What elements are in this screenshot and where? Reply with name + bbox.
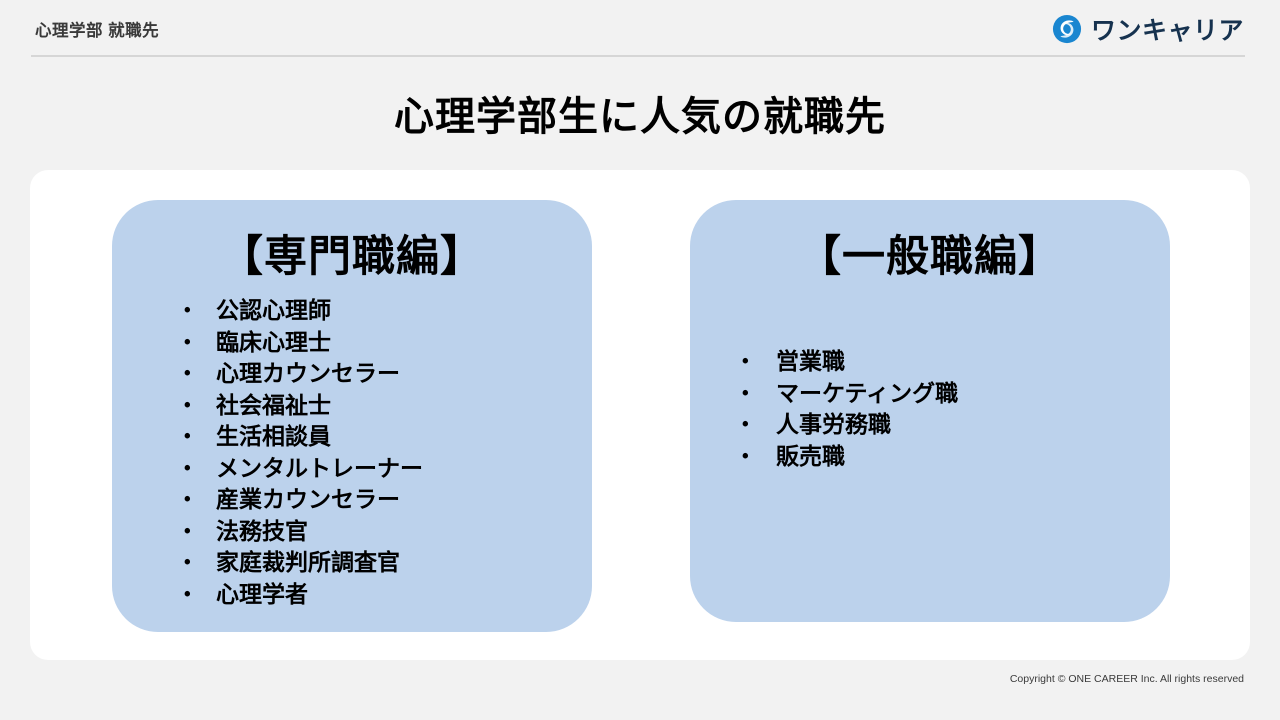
slide-root: 心理学部 就職先 ワンキャリア 心理学部生に人気の就職先 【専門職編】 公認心理… xyxy=(0,0,1280,720)
list-item: 公認心理師 xyxy=(184,295,592,327)
slide-header: 心理学部 就職先 ワンキャリア xyxy=(0,0,1280,58)
one-career-swirl-icon xyxy=(1052,14,1082,44)
list-item: メンタルトレーナー xyxy=(184,453,592,485)
header-breadcrumb-title: 心理学部 就職先 xyxy=(35,17,159,41)
list-item: 販売職 xyxy=(742,441,1170,473)
list-item: 臨床心理士 xyxy=(184,327,592,359)
brand-name-label: ワンキャリア xyxy=(1091,11,1244,47)
list-item: 法務技官 xyxy=(184,516,592,548)
list-item: 心理学者 xyxy=(184,579,592,611)
list-item: 心理カウンセラー xyxy=(184,358,592,390)
card-specialist-list: 公認心理師 臨床心理士 心理カウンセラー 社会福祉士 生活相談員 メンタルトレー… xyxy=(112,295,592,610)
list-item: 家庭裁判所調査官 xyxy=(184,547,592,579)
card-specialist: 【専門職編】 公認心理師 臨床心理士 心理カウンセラー 社会福祉士 生活相談員 … xyxy=(112,200,592,632)
card-specialist-title: 【専門職編】 xyxy=(112,222,592,284)
card-general: 【一般職編】 営業職 マーケティング職 人事労務職 販売職 xyxy=(690,200,1170,622)
header-divider xyxy=(31,55,1245,57)
list-item: マーケティング職 xyxy=(742,378,1170,410)
list-item: 社会福祉士 xyxy=(184,390,592,422)
page-title: 心理学部生に人気の就職先 xyxy=(0,84,1280,142)
card-general-title: 【一般職編】 xyxy=(690,222,1170,284)
footer-copyright: Copyright © ONE CAREER Inc. All rights r… xyxy=(1010,673,1244,685)
card-general-list: 営業職 マーケティング職 人事労務職 販売職 xyxy=(690,346,1170,472)
list-item: 人事労務職 xyxy=(742,409,1170,441)
list-item: 生活相談員 xyxy=(184,421,592,453)
brand-logo: ワンキャリア xyxy=(1052,11,1244,47)
list-item: 産業カウンセラー xyxy=(184,484,592,516)
content-panel: 【専門職編】 公認心理師 臨床心理士 心理カウンセラー 社会福祉士 生活相談員 … xyxy=(30,170,1250,660)
list-item: 営業職 xyxy=(742,346,1170,378)
